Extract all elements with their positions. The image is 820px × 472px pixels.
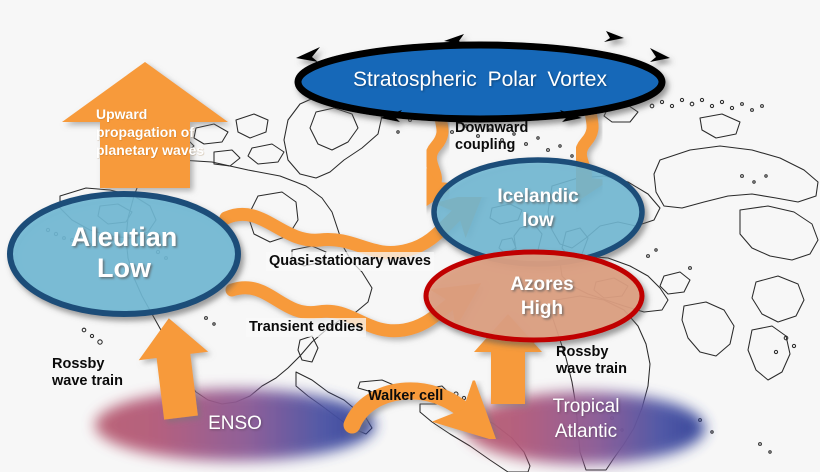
quasi-stationary-waves-label: Quasi-stationary waves (266, 252, 434, 271)
polar-vortex-ellipse[interactable] (296, 31, 670, 122)
rossby-wave-train-right-label: Rossby wave train (556, 344, 666, 378)
quasi-stationary-waves-arrow[interactable] (226, 210, 462, 252)
upward-propagation-label: Upward propagation of planetary waves (96, 106, 206, 160)
icelandic-low-ellipse[interactable] (434, 160, 642, 264)
rossby-wave-train-left-label: Rossby wave train (52, 356, 162, 390)
aleutian-low-ellipse[interactable] (10, 194, 238, 314)
transient-eddies-label: Transient eddies (246, 318, 366, 337)
walker-cell-label: Walker cell (368, 388, 443, 405)
azores-high-ellipse[interactable] (426, 252, 642, 340)
downward-coupling-label: Downward coupling (455, 120, 565, 154)
diagram-canvas: Stratospheric Polar Vortex Aleutian Low … (0, 0, 820, 472)
enso-ellipse[interactable] (95, 389, 375, 461)
